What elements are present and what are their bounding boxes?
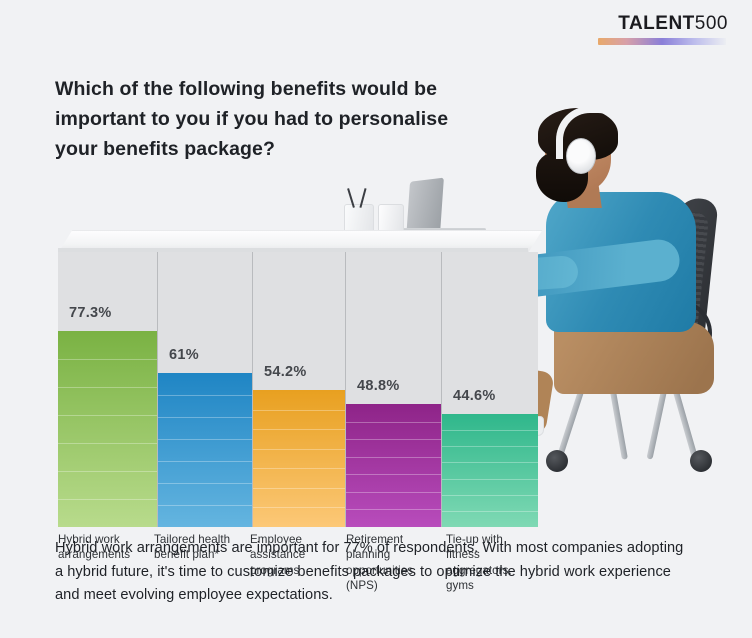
brand-name-light: 500 (695, 13, 728, 34)
bar-segment-line (346, 509, 441, 511)
bar-column[interactable]: 77.3% (58, 252, 158, 527)
bar-segment-line (442, 430, 538, 432)
bar-segment-line (253, 507, 345, 509)
chart-scene: 77.3%61%54.2%48.8%44.6% Hybrid workarran… (0, 100, 752, 500)
bar-segment-line (442, 511, 538, 513)
bar-segment-line (58, 359, 157, 361)
brand-logo-text: TALENT500 (598, 14, 728, 33)
bar-segment-line (442, 446, 538, 448)
bar-segment-line (58, 499, 157, 501)
brand-accent-bar (598, 38, 726, 45)
bar-column[interactable]: 61% (158, 252, 253, 527)
bar-value-label: 61% (169, 347, 199, 363)
bar-value-label: 48.8% (357, 378, 400, 394)
bar-segment-line (58, 415, 157, 417)
bar-column[interactable]: 48.8% (346, 252, 442, 527)
chair-caster (690, 450, 712, 472)
bar-segment-line (58, 471, 157, 473)
bar-segment-line (253, 449, 345, 451)
bar-segment-line (442, 462, 538, 464)
bar-segment-line (253, 429, 345, 431)
bar-segment-line (253, 488, 345, 490)
brand-name-bold: TALENT (618, 13, 695, 34)
bar-value-label: 77.3% (69, 305, 112, 321)
bar-segment-line (158, 417, 252, 419)
bar-fill (442, 414, 538, 527)
bar-segment-line (158, 505, 252, 507)
bar-segment-line (346, 474, 441, 476)
bar-fill (58, 331, 157, 527)
infographic-page: TALENT500 Which of the following benefit… (0, 0, 752, 638)
bar-segment-line (158, 461, 252, 463)
bar-segment-line (346, 439, 441, 441)
bar-segment-line (158, 395, 252, 397)
bar-segment-line (253, 410, 345, 412)
bar-segment-line (158, 483, 252, 485)
chair-caster (546, 450, 568, 472)
bar-segment-line (442, 479, 538, 481)
bar-fill (346, 404, 441, 527)
bar-segment-line (58, 443, 157, 445)
bar-segment-line (442, 495, 538, 497)
bar-segment-line (346, 492, 441, 494)
headphone-earcup (566, 138, 596, 174)
bar-fill (253, 390, 345, 527)
brand-logo: TALENT500 (598, 14, 728, 45)
bar-value-label: 54.2% (264, 364, 307, 380)
person-legs (554, 322, 714, 394)
bar-column[interactable]: 54.2% (253, 252, 346, 527)
bar-segment-line (346, 422, 441, 424)
bar-value-label: 44.6% (453, 388, 496, 404)
bar-chart: 77.3%61%54.2%48.8%44.6% (58, 252, 528, 527)
summary-caption: Hybrid work arrangements are important f… (55, 537, 695, 608)
bar-segment-line (158, 439, 252, 441)
bar-fill (158, 373, 252, 527)
bar-segment-line (58, 387, 157, 389)
bar-segment-line (346, 457, 441, 459)
bar-segment-line (253, 468, 345, 470)
bar-column[interactable]: 44.6% (442, 252, 538, 527)
